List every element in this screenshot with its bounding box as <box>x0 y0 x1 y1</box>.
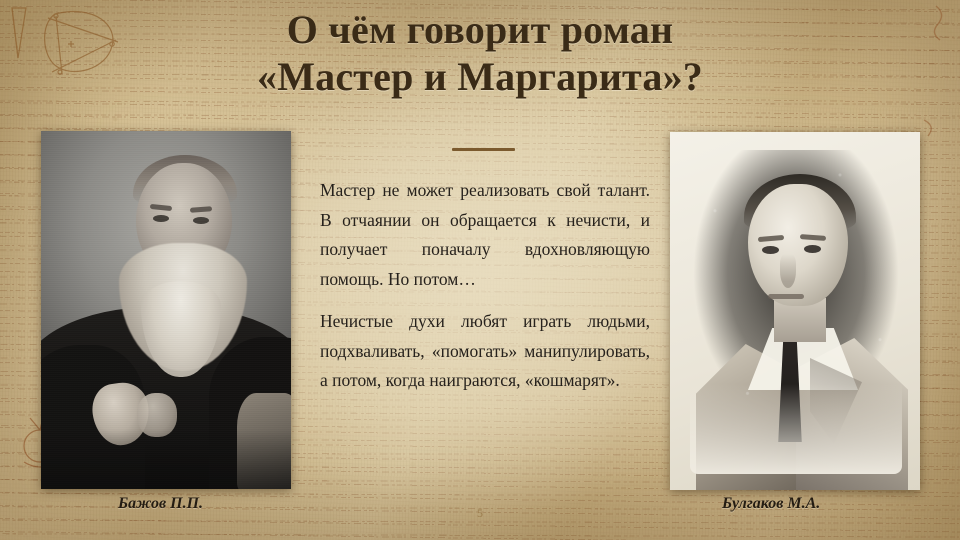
title-divider <box>452 148 515 151</box>
body-paragraph-1: Мастер не может реализовать свой талант.… <box>320 176 650 294</box>
photo-bulgakov <box>670 132 920 490</box>
photo-bazhov <box>41 131 291 489</box>
photo-bulgakov-speckles <box>670 132 920 490</box>
presentation-slide: О чём говорит роман «Мастер и Маргарита»… <box>0 0 960 540</box>
page-title: О чём говорит роман «Мастер и Маргарита»… <box>120 6 840 100</box>
photo-bazhov-bottom-shade <box>41 429 291 489</box>
slide-number: 5 <box>0 506 960 521</box>
body-paragraph-2: Нечистые духи любят играть людьми, подхв… <box>320 307 650 396</box>
title-line-2: «Мастер и Маргарита»? <box>120 53 840 100</box>
title-line-1: О чём говорит роман <box>120 6 840 53</box>
body-text-block: Мастер не может реализовать свой талант.… <box>320 176 650 396</box>
